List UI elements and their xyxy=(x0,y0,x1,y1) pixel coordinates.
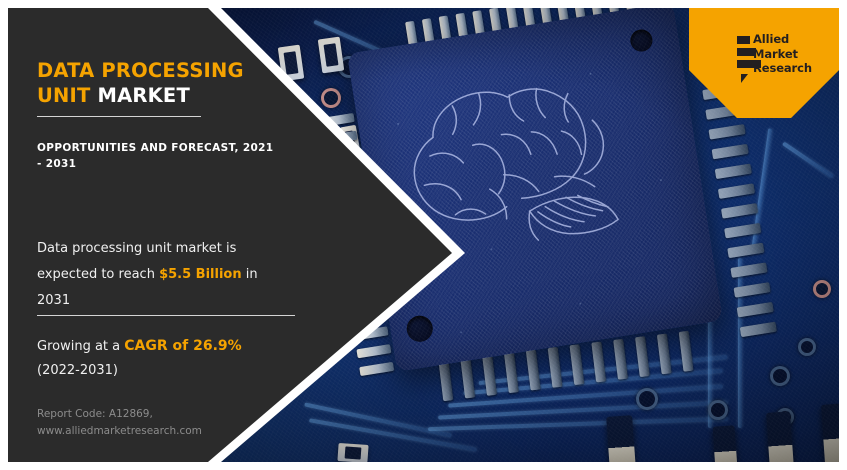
divider-top xyxy=(37,116,201,117)
logo-badge[interactable]: Allied Market Research xyxy=(689,8,839,118)
logo-line-3: Research xyxy=(753,61,812,76)
title-plain: MARKET xyxy=(91,84,190,107)
title-highlight-line1: DATA PROCESSING xyxy=(37,59,244,82)
report-website[interactable]: www.alliedmarketresearch.com xyxy=(37,425,202,437)
divider-middle xyxy=(37,315,295,316)
cagr-stat: Growing at a CAGR of 26.9% (2022-2031) xyxy=(37,334,282,383)
report-subtitle: OPPORTUNITIES AND FORECAST, 2021 - 2031 xyxy=(37,140,282,172)
cagr-stat-prefix: Growing at a xyxy=(37,339,124,354)
panel-content: DATA PROCESSING UNIT MARKET OPPORTUNITIE… xyxy=(8,8,308,462)
allied-market-research-logo[interactable]: Allied Market Research xyxy=(737,32,833,78)
report-banner: DATA PROCESSING UNIT MARKET OPPORTUNITIE… xyxy=(0,0,847,470)
report-code: Report Code: A12869, xyxy=(37,408,153,420)
cagr-stat-suffix: (2022-2031) xyxy=(37,363,118,378)
logo-line-1: Allied xyxy=(753,32,812,47)
page-title: DATA PROCESSING UNIT MARKET xyxy=(37,58,275,108)
market-value-stat: Data processing unit market is expected … xyxy=(37,236,277,314)
market-stat-value: $5.5 Billion xyxy=(159,267,242,282)
logo-line-2: Market xyxy=(753,47,812,62)
title-highlight-line2: UNIT xyxy=(37,84,91,107)
logo-wordmark: Allied Market Research xyxy=(753,32,812,76)
cagr-stat-value: CAGR of 26.9% xyxy=(124,338,241,354)
report-footer: Report Code: A12869, www.alliedmarketres… xyxy=(37,406,277,440)
